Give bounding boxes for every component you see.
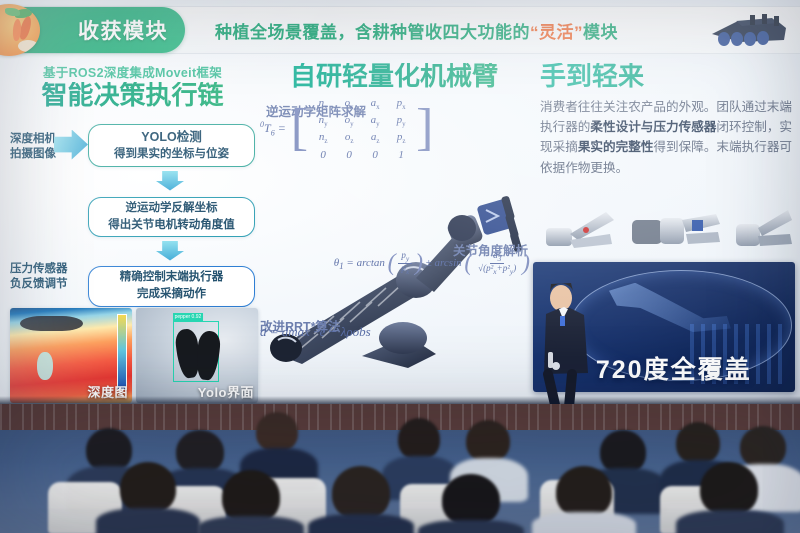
flow-step-2: 逆运动学反解坐标 得出关节电机转动角度值: [88, 197, 255, 237]
gripper-1: [546, 212, 614, 248]
audience-head: [700, 462, 758, 516]
module-badge-label: 收获模块: [78, 15, 168, 45]
presentation-photo: 收获模块 种植全场景覆盖，含耕种管收四大功能的 “灵活” 模块: [0, 0, 800, 533]
right-column: 手到轻来 消费者往往关注农产品的外观。团队通过末端执行器的柔性设计与压力传感器闭…: [540, 62, 792, 178]
arrow-down-icon-2: [156, 241, 184, 261]
gripper-photos: [540, 190, 792, 262]
flow-step-3: 精确控制末端执行器 完成采摘动作: [88, 266, 255, 307]
arrow-right-icon: [54, 130, 88, 160]
audience-head: [256, 412, 298, 452]
audience-body: [532, 512, 636, 533]
subtitle-quote: “灵活”: [530, 18, 583, 43]
audience-head: [740, 426, 786, 468]
audience-body: [308, 514, 414, 533]
gripper-2: [632, 214, 720, 244]
audience-head: [466, 420, 510, 462]
subtitle-post: 模块: [583, 18, 618, 43]
colorbar: [117, 314, 128, 390]
para-bold-1: 柔性设计与压力传感器: [590, 120, 716, 134]
matrix-label: 0T6 =: [260, 120, 286, 137]
rrt-formula: d = dmax · e − λρobs: [260, 324, 371, 340]
slide-header-subtitle: 种植全场景覆盖，含耕种管收四大功能的 “灵活” 模块: [215, 7, 618, 53]
decision-flow-chart: 深度相机 拍摄图像 YOLO检测 得到果实的坐标与位姿 逆运动学反解坐标 得出关…: [10, 124, 255, 324]
arrow-down-icon-1: [156, 171, 184, 191]
right-paragraph: 消费者往往关注农产品的外观。团队通过末端执行器的柔性设计与压力传感器闭环控制，实…: [540, 97, 792, 179]
left-column: 基于ROS2深度集成Moveit框架 智能决策执行链 深度相机 拍摄图像 YOL…: [10, 62, 255, 324]
audience-body: [676, 510, 784, 533]
audience-head: [556, 466, 612, 518]
side-label-depth-camera: 深度相机 拍摄图像: [10, 132, 56, 163]
projection-slide: 收获模块 种植全场景覆盖，含耕种管收四大功能的 “灵活” 模块: [0, 0, 800, 420]
audience-body: [198, 516, 304, 533]
slide-header-band: 收获模块 种植全场景覆盖，含耕种管收四大功能的 “灵活” 模块: [0, 6, 800, 54]
side-label-pressure-sensor: 压力传感器 负反馈调节: [10, 262, 68, 293]
audience-head: [442, 474, 500, 526]
subtitle-pre: 种植全场景覆盖，含耕种管收四大功能的: [215, 18, 530, 43]
joint-angle-formula: θ1 = arctan ( pypx ) ± arcsin ( d3√(p²x+…: [334, 250, 530, 277]
audience-body: [96, 508, 200, 533]
yolo-ui-image: pepper 0.92 Yolo界面: [136, 308, 258, 403]
right-title: 手到轻来: [540, 63, 792, 91]
middle-title: 自研轻量化机械臂: [258, 63, 530, 91]
para-bold-2: 果实的完整性: [578, 140, 654, 154]
audience-head: [676, 422, 720, 464]
video-overlay-text: 720度全覆盖: [596, 350, 752, 386]
screenshot-row: 深度图 pepper 0.92 Yolo界面: [10, 308, 258, 403]
audience-area: [0, 404, 800, 533]
gripper-3: [736, 210, 792, 246]
audience-head: [120, 462, 176, 514]
middle-column: 自研轻量化机械臂 逆运动学矩阵求解 0T6 = [ nxoxaxpx nyoya…: [258, 62, 530, 362]
audience-head: [332, 466, 390, 520]
disc-harrow-icon: [706, 12, 792, 50]
depth-map-image: 深度图: [10, 308, 132, 403]
audience-body: [418, 520, 524, 533]
audience-head: [398, 418, 440, 460]
left-title: 智能决策执行链: [10, 82, 255, 110]
flow-step-1: YOLO检测 得到果实的坐标与位姿: [88, 124, 255, 167]
left-eyebrow: 基于ROS2深度集成Moveit框架: [10, 62, 255, 81]
transformation-matrix: 0T6 = [ nxoxaxpx nyoyaypy nzozazpz 0001 …: [260, 94, 433, 164]
